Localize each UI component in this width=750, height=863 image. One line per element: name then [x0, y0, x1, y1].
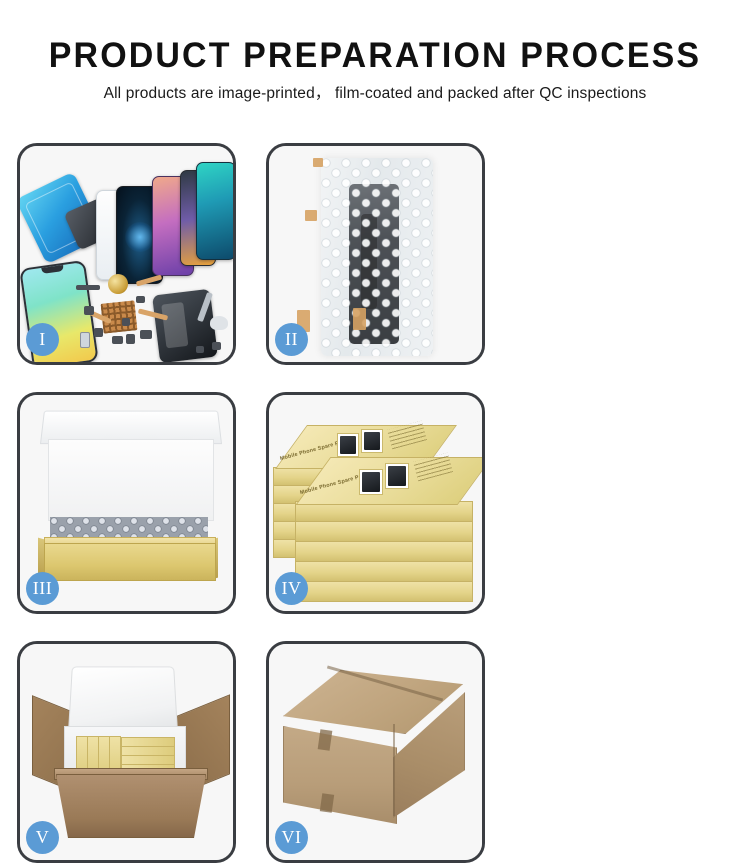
small-part-7 — [136, 296, 145, 303]
phone-teal-display — [196, 162, 236, 260]
stacked-box-f3 — [295, 541, 473, 562]
gold-component-icon — [108, 274, 128, 294]
bubble-texture — [321, 158, 433, 356]
small-part-9 — [196, 346, 204, 353]
small-part-5 — [140, 330, 152, 339]
page-title: PRODUCT PREPARATION PROCESS — [11, 38, 739, 73]
small-part-8 — [212, 342, 221, 350]
white-foam-sheet — [48, 439, 214, 521]
carton-body — [56, 774, 206, 838]
sim-tray-part — [80, 332, 90, 348]
process-step-2[interactable]: II — [266, 143, 485, 365]
small-part-1 — [84, 306, 94, 315]
small-part-3 — [112, 336, 123, 344]
process-step-3[interactable]: III — [17, 392, 236, 614]
step-badge-4: IV — [275, 572, 308, 605]
stacked-box-f2 — [295, 521, 473, 542]
step-badge-3: III — [26, 572, 59, 605]
step-badge-2: II — [275, 323, 308, 356]
tape-strip-2 — [305, 210, 317, 221]
box-window-front-1 — [359, 469, 383, 495]
stacked-box-f4 — [295, 561, 473, 582]
speaker-mesh-part — [76, 285, 100, 290]
inner-box-body — [44, 543, 216, 581]
styrofoam-lid — [68, 666, 178, 731]
page-subtitle: All products are image-printed， film-coa… — [0, 86, 750, 102]
carton-front-face — [283, 726, 397, 824]
process-step-grid: I II III — [17, 143, 733, 863]
step-badge-1: I — [26, 323, 59, 356]
box-window-rear-1 — [337, 433, 359, 457]
small-part-2 — [94, 328, 103, 337]
box-window-rear-2 — [361, 429, 383, 453]
bubble-wrap-bag — [321, 158, 433, 356]
process-step-6[interactable]: VI — [266, 641, 485, 863]
tape-strip-1 — [313, 158, 323, 167]
carton-tape-lower — [320, 793, 334, 812]
page-header: PRODUCT PREPARATION PROCESS All products… — [0, 0, 750, 102]
process-step-4[interactable]: Mobile Phone Spare Parts Mobile Phone Sp… — [266, 392, 485, 614]
stacked-box-f5 — [295, 581, 473, 602]
small-part-6 — [122, 318, 130, 326]
box-window-front-2 — [385, 463, 409, 489]
process-step-1[interactable]: I — [17, 143, 236, 365]
carton-vertical-edge — [393, 724, 395, 816]
tape-strip-4 — [353, 308, 366, 330]
step-badge-6: VI — [275, 821, 308, 854]
repair-tool-handle — [210, 316, 228, 330]
small-part-4 — [126, 334, 135, 344]
step-badge-5: V — [26, 821, 59, 854]
process-step-5[interactable]: V — [17, 641, 236, 863]
